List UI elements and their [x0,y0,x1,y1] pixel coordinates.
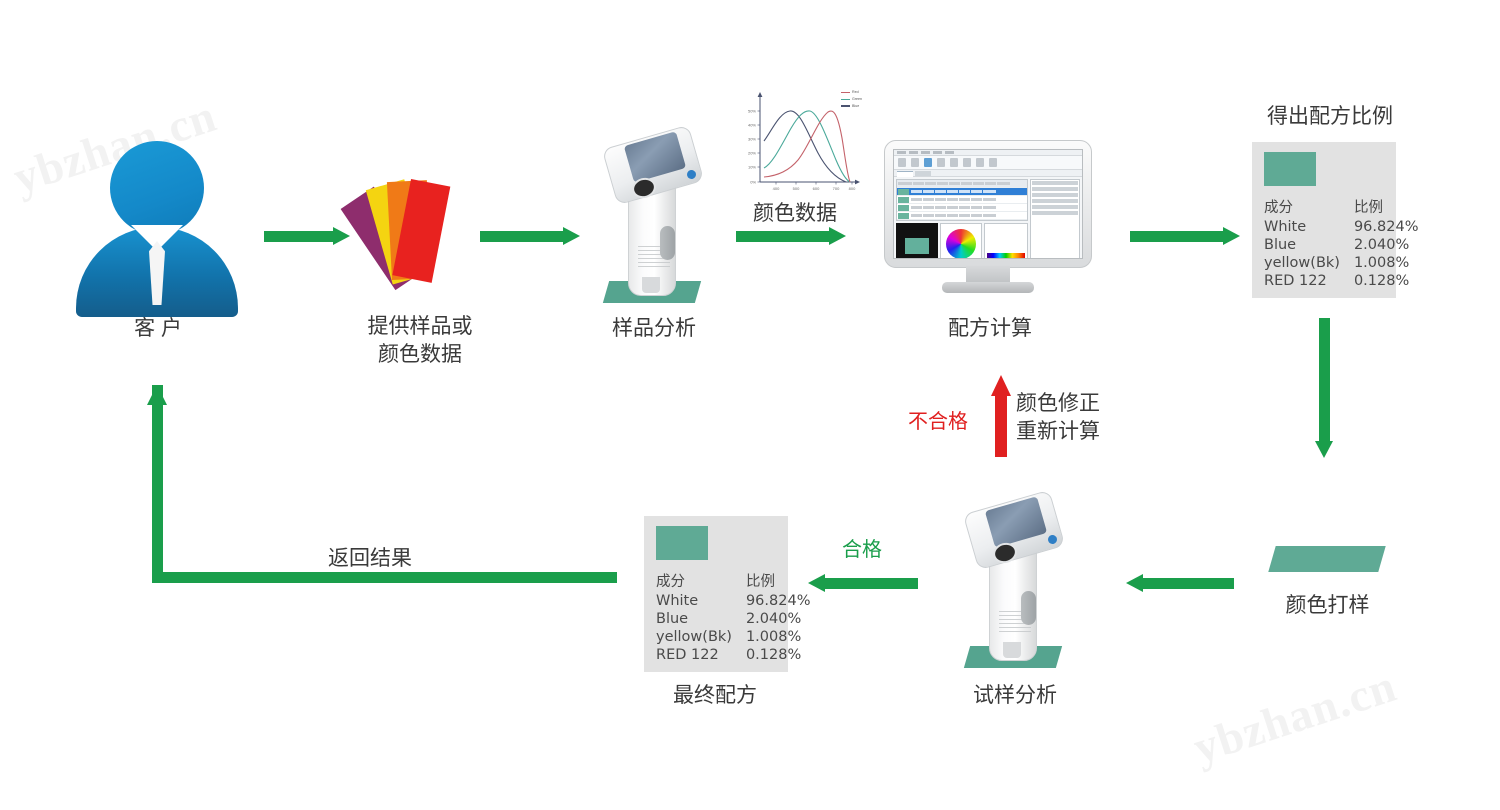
label-specimen-analysis: 试样分析 [935,682,1095,710]
monitor-icon [884,140,1092,295]
monitor-screen [893,149,1083,259]
formula-component: RED 122 [656,646,732,664]
formula-component: yellow(Bk) [656,628,732,646]
formula-ratio: 2.040% [1340,236,1419,254]
device-grip [1021,591,1036,625]
label-color-data: 颜色数据 [710,200,880,228]
label-return-result: 返回结果 [305,545,435,573]
formula-row: White 96.824% [1264,218,1418,236]
arrow-calculation-to-formula [1130,227,1240,245]
formula-header-row: 成分 比例 [656,569,810,592]
svg-text:20%: 20% [748,151,756,156]
formula-ratio: 2.040% [732,610,811,628]
monitor-bezel [884,140,1092,268]
formula-row: RED 122 0.128% [1264,272,1418,290]
arrow-sample-to-analysis [480,227,580,245]
formula-component: White [656,592,732,610]
formula-component: Blue [656,610,732,628]
formula-ratio: 96.824% [732,592,811,610]
label-provide-sample: 提供样品或 颜色数据 [330,313,510,370]
sample-image-preview [896,223,938,259]
arrow-colordata-to-calculation [736,227,846,245]
formula-component: yellow(Bk) [1264,254,1340,272]
software-main-panel [896,179,1028,259]
table-row[interactable] [897,196,1027,204]
label-formula-ratio-title: 得出配方比例 [1230,103,1430,131]
device-aperture-tip [1003,642,1021,658]
formula-ratio: 1.008% [732,628,811,646]
avatar-head [110,141,204,235]
arrow-pass-to-final-formula [808,574,918,592]
return-arrow-head [147,385,167,405]
label-formula-calculation: 配方计算 [910,315,1070,343]
device-aperture-tip [642,277,660,293]
table-header-row [897,180,1027,188]
return-arrow-vertical [152,385,163,583]
formula-ratio: 96.824% [1340,218,1419,236]
formula-row: Blue 2.040% [1264,236,1418,254]
formula-ratio: 0.128% [732,646,811,664]
formula-header-ratio: 比例 [1340,195,1419,218]
svg-text:0%: 0% [750,180,756,185]
arrow-fail-recalculate [991,375,1011,457]
formula-table: 成分 比例 White 96.824% Blue 2.040% yellow(B… [1264,195,1418,290]
formula-row: yellow(Bk) 1.008% [1264,254,1418,272]
svg-text:400: 400 [773,186,780,191]
formula-header-component: 成分 [656,569,732,592]
software-tabs [894,170,1082,177]
arrow-formula-to-proofing [1315,318,1333,458]
formula-row: RED 122 0.128% [656,646,810,664]
software-side-panel [1030,179,1080,259]
label-pass: 合格 [842,533,882,562]
formula-row: Blue 2.040% [656,610,810,628]
spectral-curve-chart: 0%10% 20%30% 40%50% 400500 600700800 Red… [726,86,864,198]
spectrum-bar [987,253,1025,259]
spectrophotometer-icon-sample [602,128,702,303]
svg-text:40%: 40% [748,123,756,128]
person-avatar-icon [76,141,238,316]
table-row[interactable] [897,212,1027,220]
formula-ratio: 1.008% [1340,254,1419,272]
formula-card-top: 成分 比例 White 96.824% Blue 2.040% yellow(B… [1252,142,1396,298]
software-bottom-panels [896,223,1028,259]
label-customer: 客 户 [72,315,244,343]
svg-text:700: 700 [833,186,840,191]
return-arrow-horizontal [152,572,617,583]
svg-text:50%: 50% [748,109,756,114]
color-wheel-icon[interactable] [940,223,982,259]
svg-text:500: 500 [793,186,800,191]
arrow-customer-to-sample [264,227,350,245]
table-row[interactable] [897,188,1027,196]
label-color-correction: 颜色修正 重新计算 [1016,390,1136,447]
formula-table: 成分 比例 White 96.824% Blue 2.040% yellow(B… [656,569,810,664]
formula-header-ratio: 比例 [732,569,811,592]
svg-text:600: 600 [813,186,820,191]
spectrum-panel [984,223,1028,259]
svg-text:800: 800 [849,186,856,191]
label-sample-analysis: 样品分析 [570,315,738,343]
formula-row: yellow(Bk) 1.008% [656,628,810,646]
formula-header-component: 成分 [1264,195,1340,218]
legend-item-green: Green [841,96,862,103]
formula-component: Blue [1264,236,1340,254]
legend-item-blue: Blue [841,103,862,110]
formula-component: RED 122 [1264,272,1340,290]
chart-legend: Red Green Blue [841,89,862,109]
monitor-base [942,282,1034,293]
arrow-proofing-to-specimen [1126,574,1234,592]
color-sample-cards-icon [352,175,482,295]
formula-color-swatch [656,526,708,560]
formula-ratio: 0.128% [1340,272,1419,290]
formula-row: White 96.824% [656,592,810,610]
device-grip [660,226,675,260]
spectrophotometer-icon-specimen [963,493,1063,668]
formula-component: White [1264,218,1340,236]
svg-text:30%: 30% [748,137,756,142]
label-fail: 不合格 [908,405,968,434]
table-row[interactable] [897,204,1027,212]
software-body [894,177,1082,259]
formula-header-row: 成分 比例 [1264,195,1418,218]
software-data-table [896,179,1028,221]
label-color-proofing: 颜色打样 [1245,592,1410,620]
color-proof-swatch [1268,546,1385,572]
software-toolbar [894,156,1082,170]
label-final-formula: 最终配方 [640,682,790,710]
watermark-bottom-right: ybzhan.cn [1187,659,1403,774]
formula-card-final: 成分 比例 White 96.824% Blue 2.040% yellow(B… [644,516,788,672]
legend-item-red: Red [841,89,862,96]
svg-text:10%: 10% [748,165,756,170]
formula-color-swatch [1264,152,1316,186]
